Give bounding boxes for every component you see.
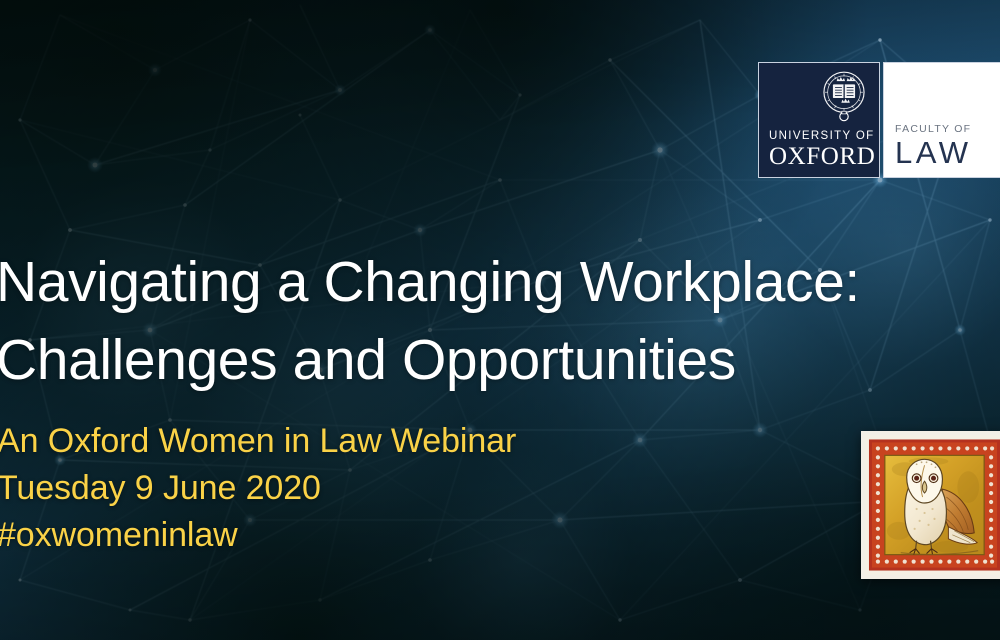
owl-manuscript-image xyxy=(861,431,1000,579)
logo-lockup: UNIVERSITY OF OXFORD FACULTY OF LAW xyxy=(758,62,1000,178)
subtitle-hashtag-line: #oxwomeninlaw xyxy=(0,512,757,559)
slide-title-line-1: Navigating a Changing Workplace: xyxy=(0,243,936,321)
title-slide: Navigating a Changing Workplace: Challen… xyxy=(0,0,1000,640)
oxford-coat-of-arms-icon xyxy=(817,68,871,126)
medieval-owl-illumination-icon xyxy=(865,435,1000,575)
oxford-logo-line-1: UNIVERSITY OF xyxy=(769,129,875,143)
subtitle-date-line: Tuesday 9 June 2020 xyxy=(0,465,757,512)
law-logo-line-2: LAW xyxy=(895,136,972,169)
university-of-oxford-logo: UNIVERSITY OF OXFORD xyxy=(758,62,880,178)
subtitle-event-line: An Oxford Women in Law Webinar xyxy=(0,418,757,465)
oxford-logo-line-2: OXFORD xyxy=(769,143,875,170)
law-logo-wordmark: FACULTY OF LAW xyxy=(895,122,972,169)
oxford-logo-wordmark: UNIVERSITY OF OXFORD xyxy=(769,129,875,170)
faculty-of-law-logo: FACULTY OF LAW xyxy=(883,62,1000,178)
slide-title: Navigating a Changing Workplace: Challen… xyxy=(0,243,936,399)
slide-title-line-2: Challenges and Opportunities xyxy=(0,321,936,399)
law-logo-line-1: FACULTY OF xyxy=(895,122,972,136)
slide-subtitle: An Oxford Women in Law Webinar Tuesday 9… xyxy=(0,418,757,559)
